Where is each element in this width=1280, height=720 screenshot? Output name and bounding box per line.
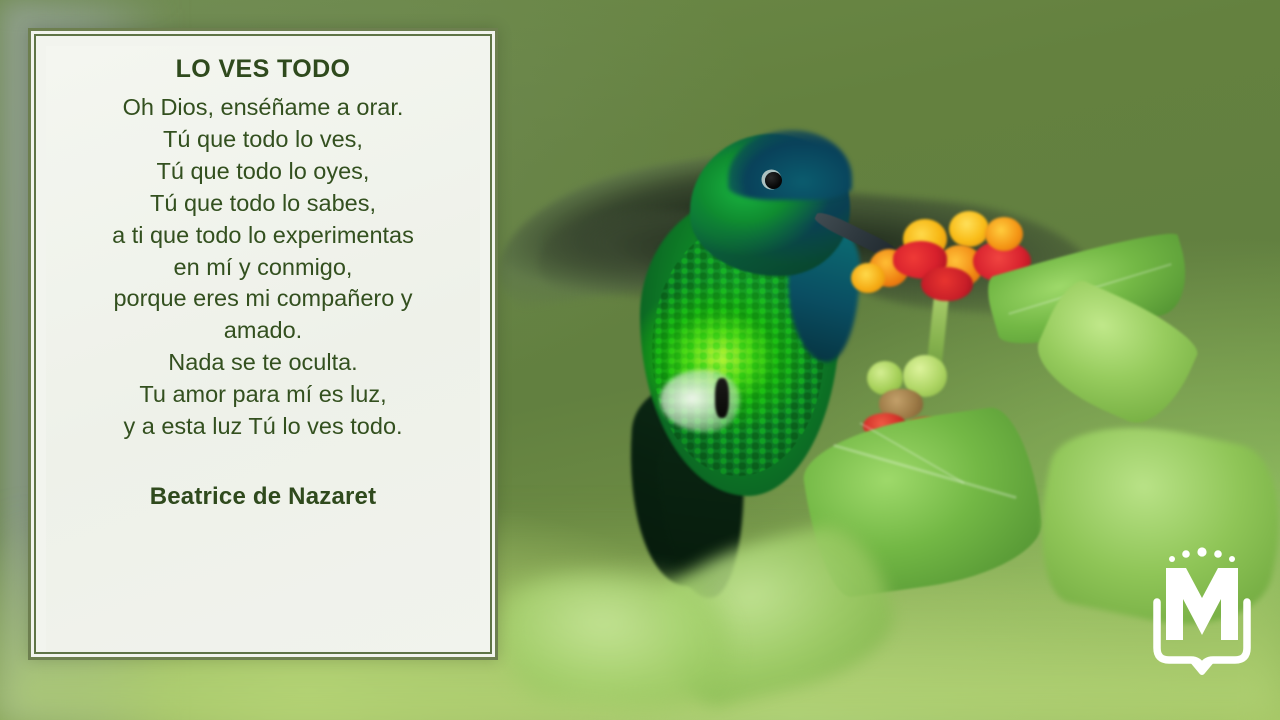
poem-line: en mí y conmigo, xyxy=(58,252,468,284)
floret-yellow-3 xyxy=(851,263,885,293)
poem-line: Oh Dios, enséñame a orar. xyxy=(58,92,468,124)
hummingbird-eye xyxy=(765,172,782,189)
floret-orange-3 xyxy=(985,217,1023,251)
floret-yellow-2 xyxy=(949,211,989,247)
poem-card-inner-border: LO VES TODO Oh Dios, enséñame a orar. Tú… xyxy=(34,34,492,654)
poem-line: Tu amor para mí es luz, xyxy=(58,379,468,411)
poem-line: porque eres mi compañero y xyxy=(58,283,468,315)
poem-card-sheet: LO VES TODO Oh Dios, enséñame a orar. Tú… xyxy=(46,46,480,652)
logo-dots-arc xyxy=(1169,547,1235,562)
poem-line: a ti que todo lo experimentas xyxy=(58,220,468,252)
quote-card-image: LO VES TODO Oh Dios, enséñame a orar. Tú… xyxy=(0,0,1280,720)
poem-body: Oh Dios, enséñame a orar. Tú que todo lo… xyxy=(58,92,468,443)
poem-line: Tú que todo lo oyes, xyxy=(58,156,468,188)
poem-title: LO VES TODO xyxy=(58,55,468,84)
hummingbird-foot xyxy=(715,378,729,418)
poem-line: Nada se te oculta. xyxy=(58,347,468,379)
poem-author: Beatrice de Nazaret xyxy=(58,483,468,511)
poem-line: Tú que todo lo ves, xyxy=(58,124,468,156)
logo-monogram-m xyxy=(1166,568,1238,640)
poem-line: amado. xyxy=(58,315,468,347)
poem-line: Tú que todo lo sabes, xyxy=(58,188,468,220)
open-book-monogram-logo xyxy=(1152,542,1262,677)
floret-red-3 xyxy=(921,267,973,301)
poem-line: y a esta luz Tú lo ves todo. xyxy=(58,411,468,443)
poem-card: LO VES TODO Oh Dios, enséñame a orar. Tú… xyxy=(28,28,498,660)
